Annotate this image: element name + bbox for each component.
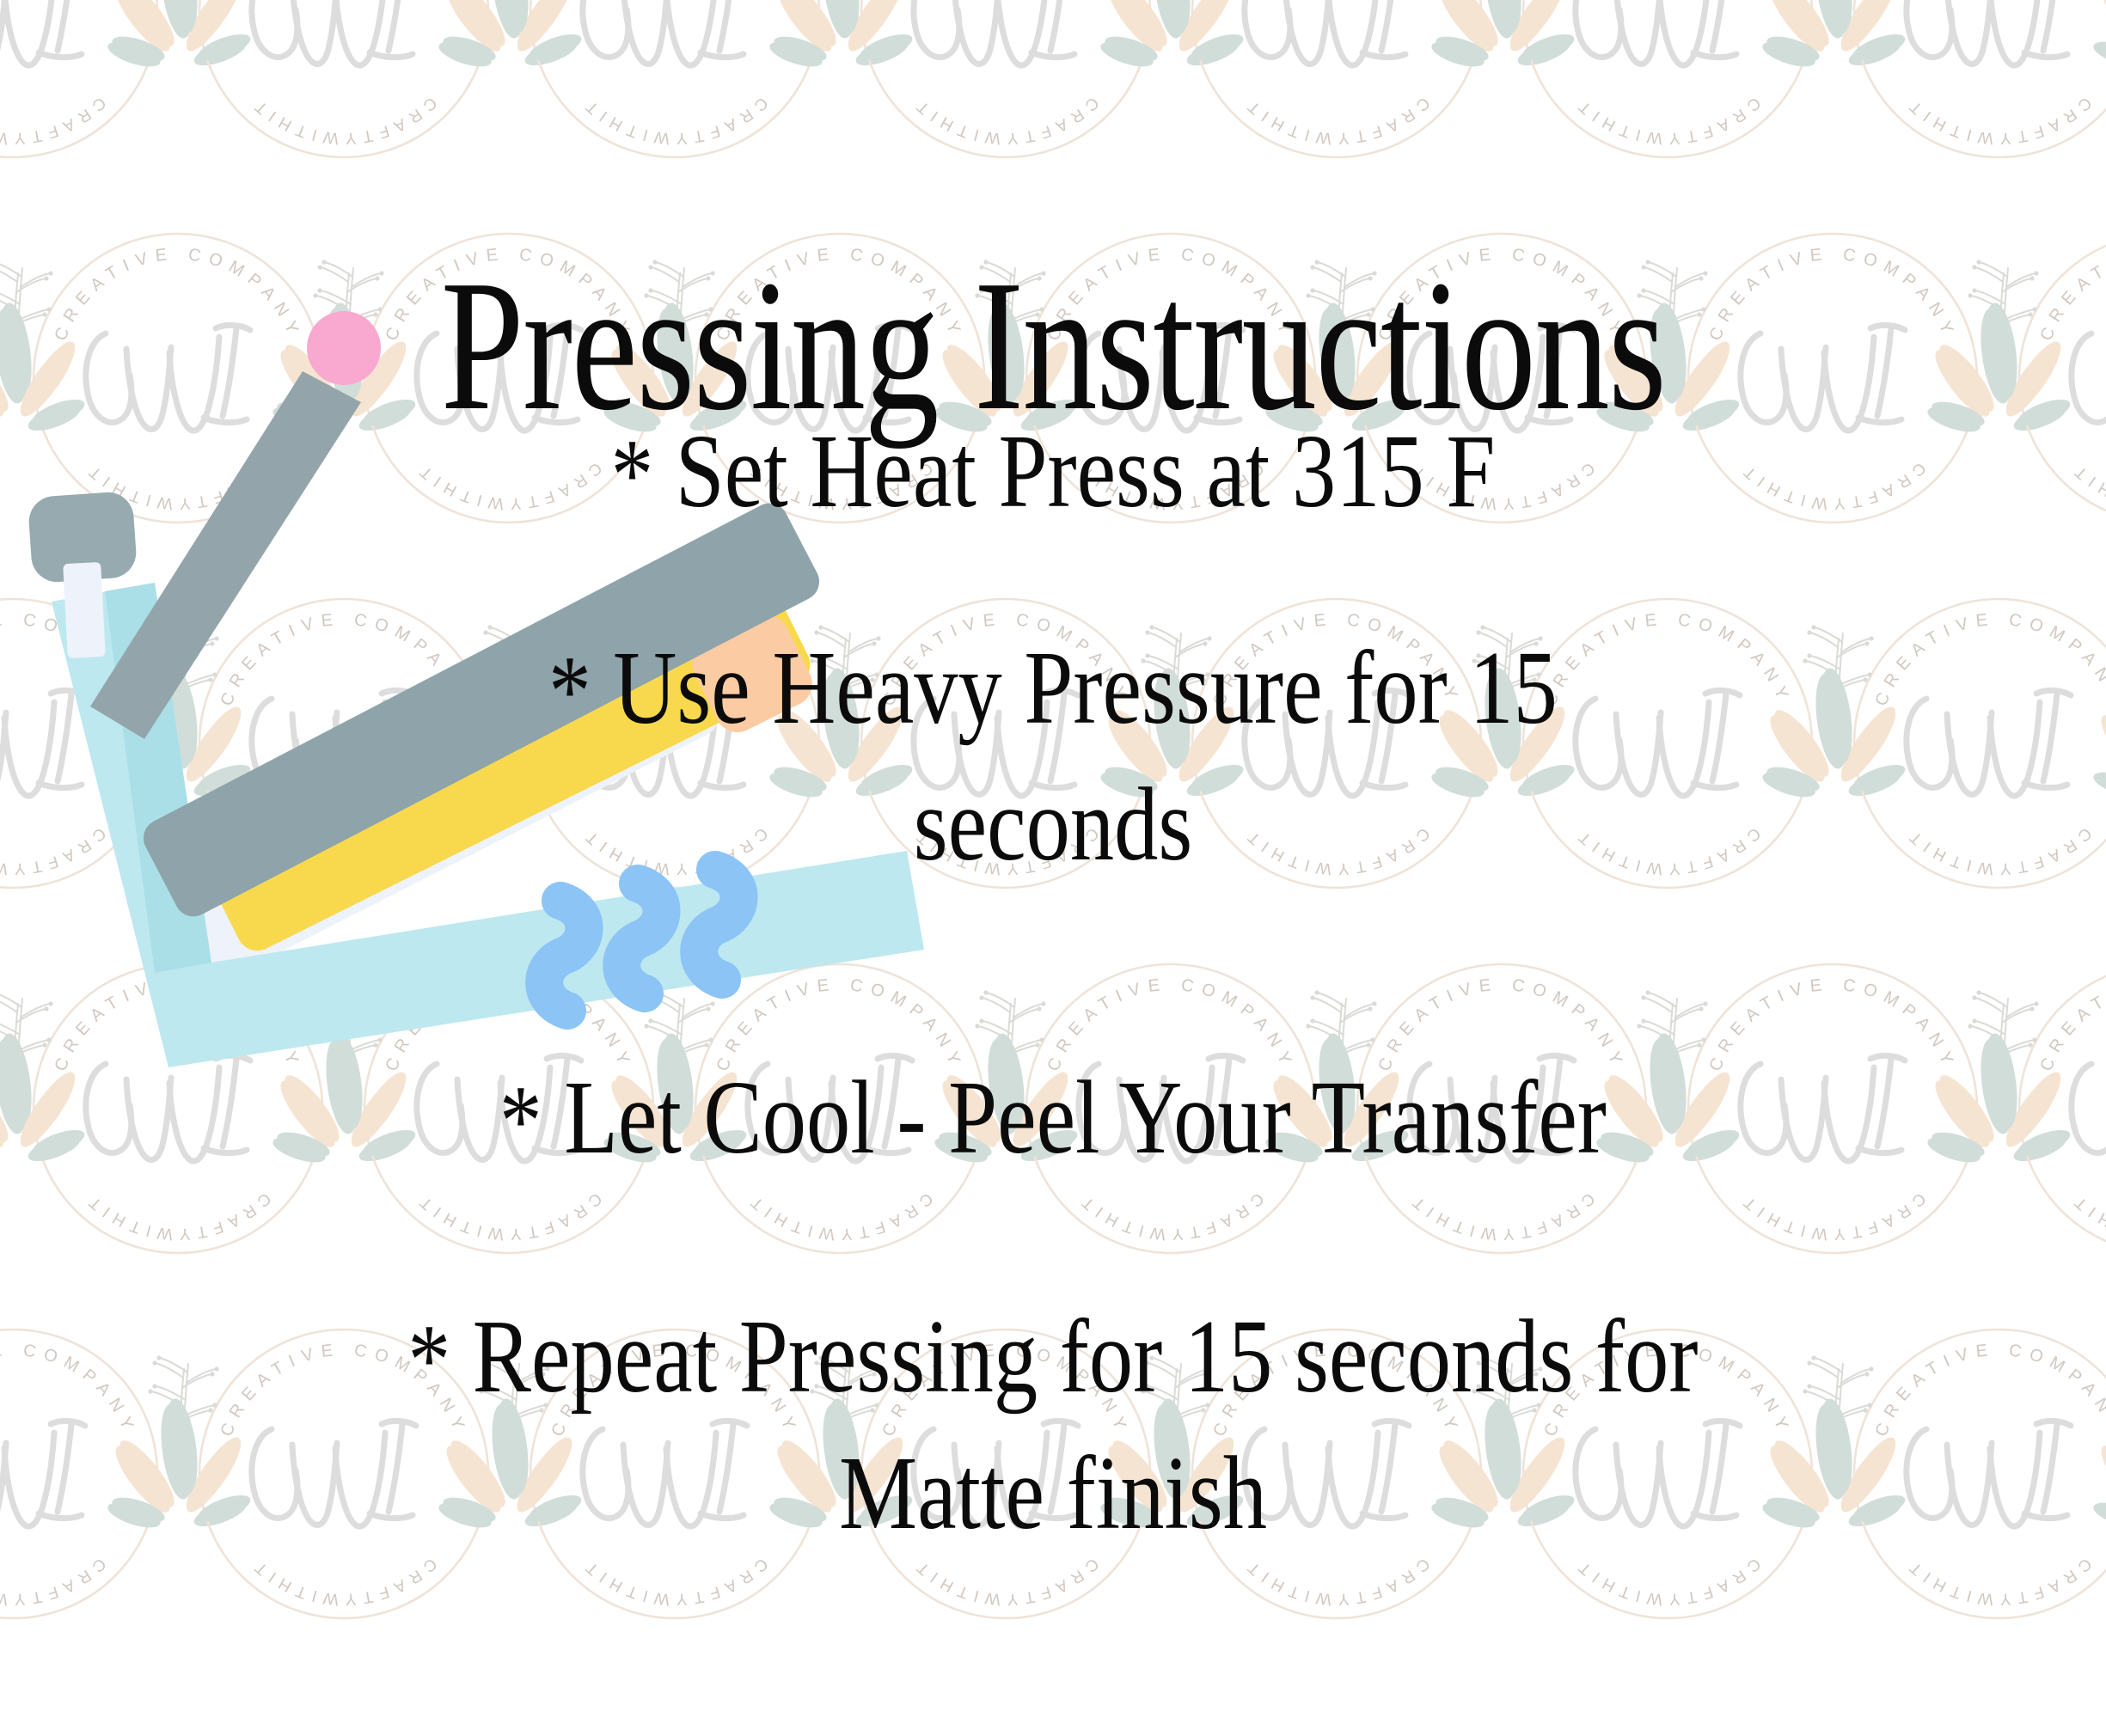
bullet-star-icon: * (499, 1064, 542, 1177)
instruction-item: * Repeat Pressing for 15 seconds for Mat… (0, 1289, 2106, 1562)
instruction-item: * Use Heavy Pressure for 15 seconds (0, 620, 2106, 893)
bullet-star-icon: * (548, 634, 591, 747)
bullet-star-icon: * (611, 418, 654, 530)
instruction-item: * Let Cool - Peel Your Transfer (0, 1050, 2106, 1187)
instruction-text: Repeat Pressing for 15 seconds for (473, 1299, 1699, 1415)
instruction-text: Let Cool - Peel Your Transfer (564, 1060, 1607, 1176)
instruction-text: Use Heavy Pressure for 15 (613, 630, 1558, 746)
instruction-text: seconds (168, 757, 1938, 894)
instruction-item: * Set Heat Press at 315 F (0, 404, 2106, 541)
instruction-text: Set Heat Press at 315 F (676, 413, 1496, 529)
instruction-card: CREATIVE COMPANY CRAFTYWITHIT (0, 0, 2106, 1736)
instruction-text: Matte finish (168, 1426, 1938, 1562)
bullet-star-icon: * (407, 1303, 450, 1415)
